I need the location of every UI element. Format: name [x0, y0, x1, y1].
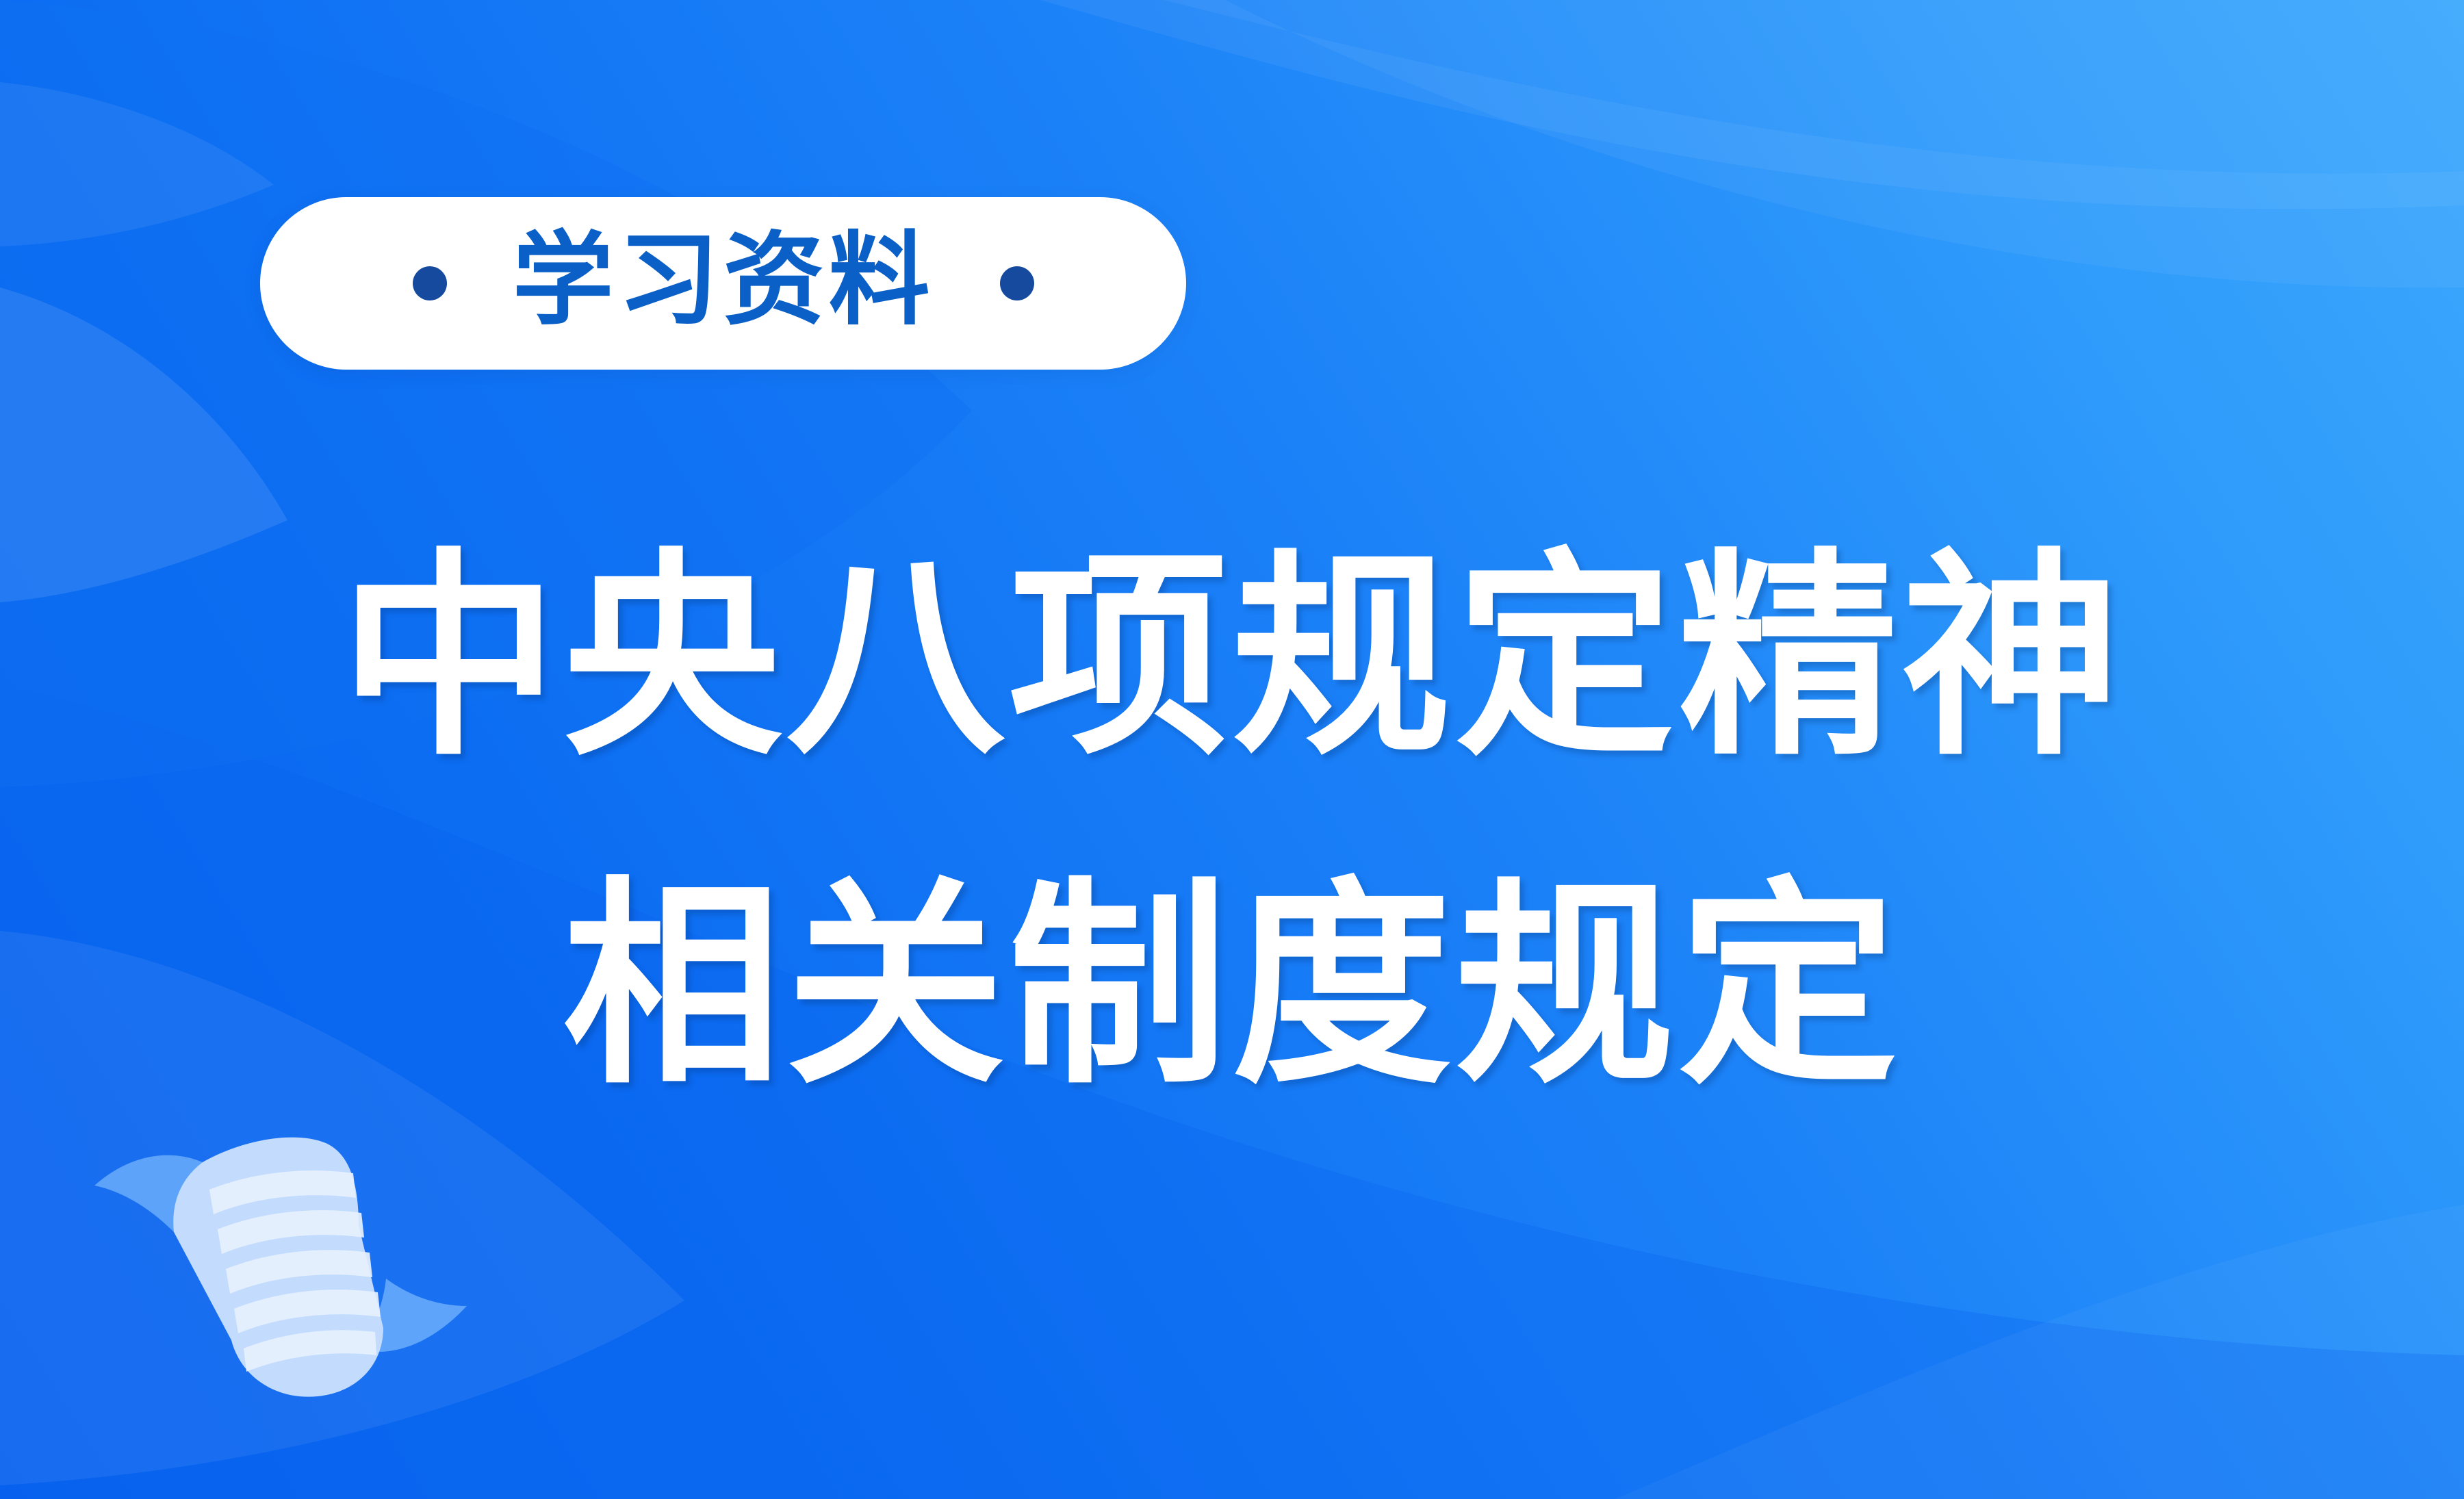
paper-sheet [173, 1138, 383, 1397]
page-title: 中央八项规定精神 相关制度规定 [0, 548, 2464, 1095]
dot-icon-right [1000, 266, 1034, 300]
paper-scroll-icon [82, 1123, 479, 1437]
study-material-badge[interactable]: 学习资料 [260, 197, 1186, 370]
page-title-line-1: 中央八项规定精神 [0, 548, 2464, 767]
wave-icon [1040, 0, 2464, 209]
wave-icon [1615, 1205, 2464, 1499]
paper-curl-left [94, 1155, 203, 1232]
wave-icon [0, 82, 274, 246]
page-title-line-2: 相关制度规定 [0, 876, 2464, 1095]
paper-curl-right [356, 1279, 467, 1352]
badge-label: 学习资料 [513, 230, 934, 331]
dot-icon-left [413, 266, 447, 300]
poster-canvas: 学习资料 中央八项规定精神 相关制度规定 [0, 0, 2464, 1499]
wave-icon [1164, 0, 2464, 287]
paper-lines [209, 1170, 381, 1372]
